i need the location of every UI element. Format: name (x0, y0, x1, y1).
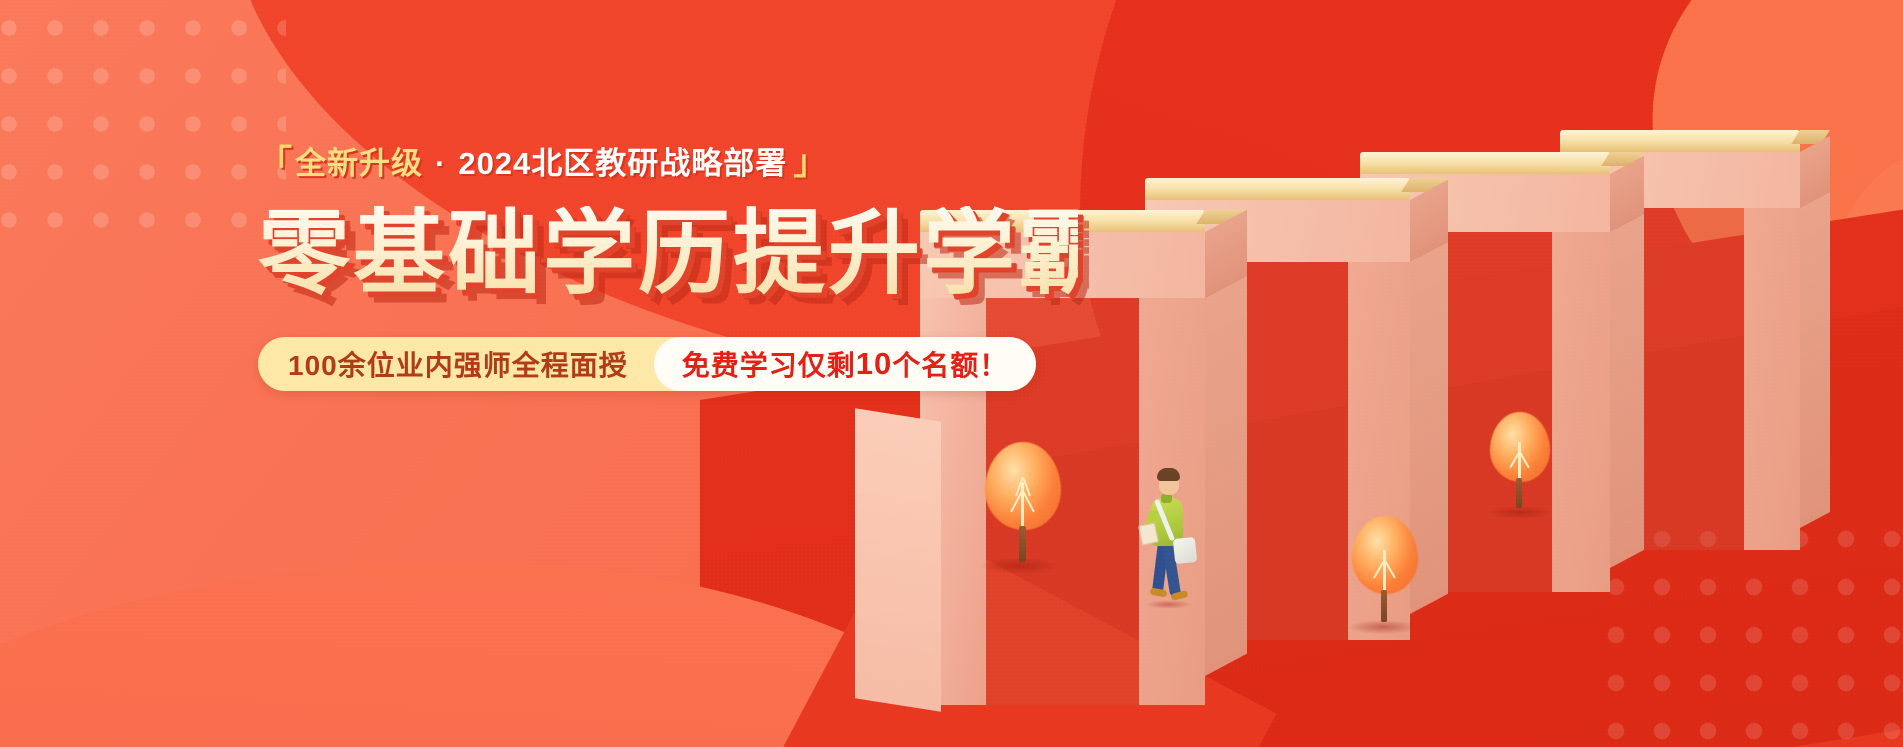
eyebrow-line: 「 全新升级 · 2024北区教研战略部署 」 (258, 146, 1078, 180)
tree-mid (1352, 516, 1424, 634)
page-title: 零基础学历提升学霸班 (258, 206, 1078, 303)
bracket-close: 」 (793, 146, 828, 180)
eyebrow-gold-text: 全新升级 (293, 148, 425, 179)
pill-right-label: 免费学习仅剩 10 个名额！ (654, 337, 1037, 391)
banner-copy: 「 全新升级 · 2024北区教研战略部署 」 零基础学历提升学霸班 100余位… (258, 146, 1078, 391)
gate-door-panel (855, 408, 941, 712)
eyebrow-white-text: 2024北区教研战略部署 (456, 148, 789, 179)
dot-grid-icon (0, 4, 286, 254)
pill-right-suffix: 个名额！ (892, 344, 1008, 384)
pill-left-label: 100余位业内强师全程面授 (258, 337, 654, 391)
promo-banner: 「 全新升级 · 2024北区教研战略部署 」 零基础学历提升学霸班 100余位… (0, 0, 1903, 747)
pill-right-prefix: 免费学习仅剩 (682, 344, 856, 384)
pill-right-number: 10 (856, 346, 892, 382)
tree-left (985, 442, 1065, 572)
bracket-open: 「 (258, 146, 293, 180)
eyebrow-separator: · (425, 148, 456, 179)
tree-right (1490, 412, 1556, 518)
student-figure (1138, 458, 1208, 608)
highlight-pill: 100余位业内强师全程面授 免费学习仅剩 10 个名额！ (258, 337, 1036, 391)
